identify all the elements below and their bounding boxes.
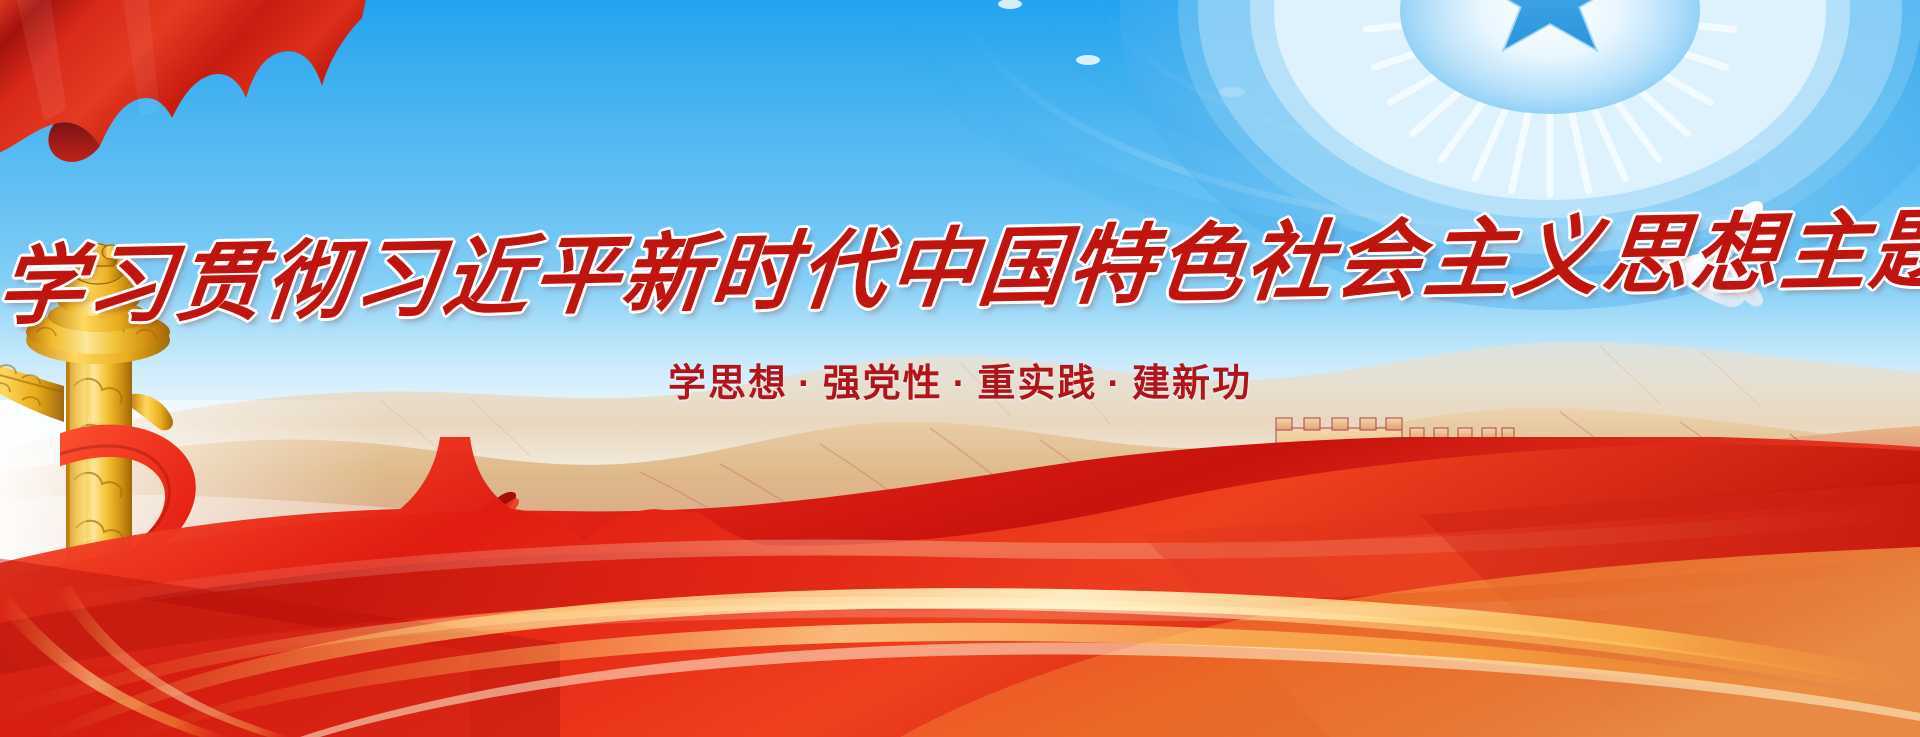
- horizon-haze: [0, 280, 1920, 531]
- banner-canvas: 学习贯彻习近平新时代中国特色社会主义思想主题教育 学思想·强党性·重实践·建新功: [0, 0, 1920, 737]
